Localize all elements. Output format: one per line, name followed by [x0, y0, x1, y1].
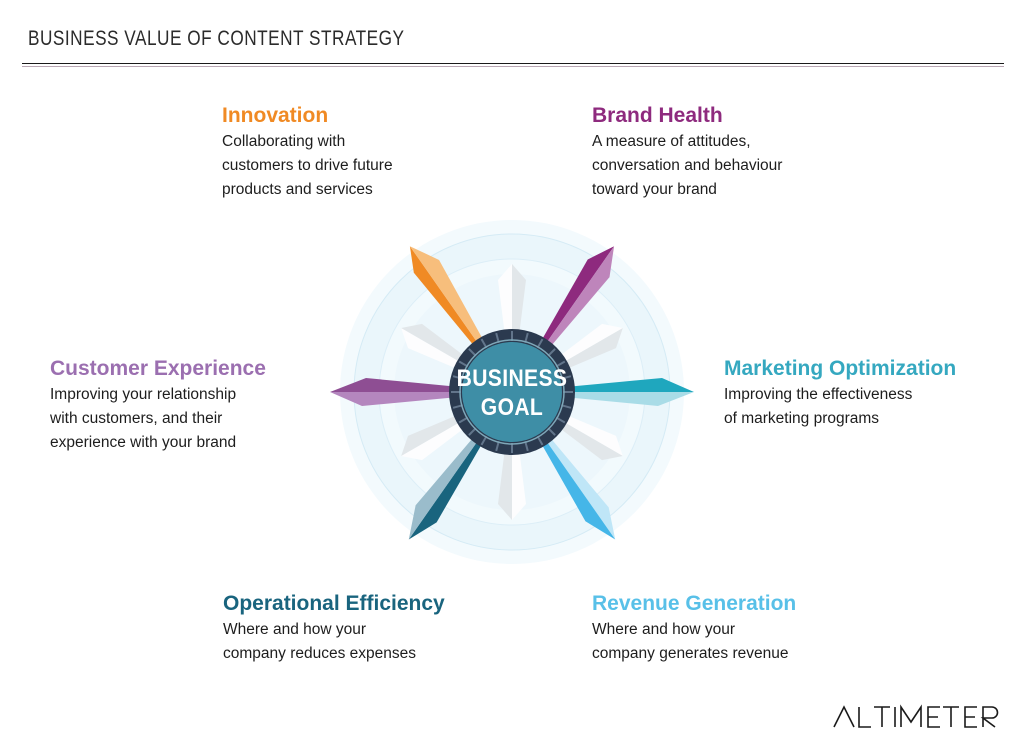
callout-innovation-line-3: products and services [222, 178, 393, 202]
callout-operational-efficiency-line-2: company reduces expenses [223, 642, 445, 666]
callout-operational-efficiency-description: Where and how your company reduces expen… [223, 618, 445, 666]
callout-customer-experience-title: Customer Experience [50, 357, 266, 381]
callout-revenue-generation-title: Revenue Generation [592, 592, 796, 616]
callout-revenue-generation-line-2: company generates revenue [592, 642, 796, 666]
callout-marketing-optimization-title: Marketing Optimization [724, 357, 956, 381]
compass-rose-diagram: BUSINESS GOAL [322, 202, 702, 582]
callout-operational-efficiency-title: Operational Efficiency [223, 592, 445, 616]
callout-innovation-line-1: Collaborating with [222, 130, 393, 154]
callout-revenue-generation-line-1: Where and how your [592, 618, 796, 642]
callout-brand-health-line-1: A measure of attitudes, [592, 130, 782, 154]
callout-innovation-description: Collaborating with customers to drive fu… [222, 130, 393, 202]
callout-customer-experience-line-1: Improving your relationship [50, 383, 266, 407]
callout-marketing-optimization: Marketing Optimization Improving the eff… [724, 357, 956, 431]
callout-brand-health-description: A measure of attitudes, conversation and… [592, 130, 782, 202]
callout-marketing-optimization-line-2: of marketing programs [724, 407, 956, 431]
callout-innovation: Innovation Collaborating with customers … [222, 104, 393, 202]
compass-hub-label-line-2: GOAL [481, 394, 543, 421]
compass-hub-label-line-1: BUSINESS [457, 365, 568, 392]
altimeter-logo: ALTIMETER [832, 703, 1002, 733]
header-divider-accent [22, 66, 1004, 67]
callout-revenue-generation: Revenue Generation Where and how your co… [592, 592, 796, 666]
callout-operational-efficiency-line-1: Where and how your [223, 618, 445, 642]
callout-innovation-line-2: customers to drive future [222, 154, 393, 178]
slide-header: BUSINESS VALUE OF CONTENT STRATEGY [0, 0, 1024, 70]
page-title: BUSINESS VALUE OF CONTENT STRATEGY [28, 27, 405, 51]
callout-customer-experience-description: Improving your relationship with custome… [50, 383, 266, 455]
callout-brand-health: Brand Health A measure of attitudes, con… [592, 104, 782, 202]
header-divider [22, 63, 1004, 64]
compass-hub-face [462, 342, 562, 442]
callout-innovation-title: Innovation [222, 104, 393, 128]
altimeter-wordmark-icon [832, 703, 1002, 733]
callout-brand-health-line-2: conversation and behaviour [592, 154, 782, 178]
callout-customer-experience-line-2: with customers, and their [50, 407, 266, 431]
callout-marketing-optimization-description: Improving the effectiveness of marketing… [724, 383, 956, 431]
callout-brand-health-line-3: toward your brand [592, 178, 782, 202]
callout-customer-experience: Customer Experience Improving your relat… [50, 357, 266, 455]
callout-marketing-optimization-line-1: Improving the effectiveness [724, 383, 956, 407]
callout-customer-experience-line-3: experience with your brand [50, 431, 266, 455]
callout-operational-efficiency: Operational Efficiency Where and how you… [223, 592, 445, 666]
callout-revenue-generation-description: Where and how your company generates rev… [592, 618, 796, 666]
callout-brand-health-title: Brand Health [592, 104, 782, 128]
